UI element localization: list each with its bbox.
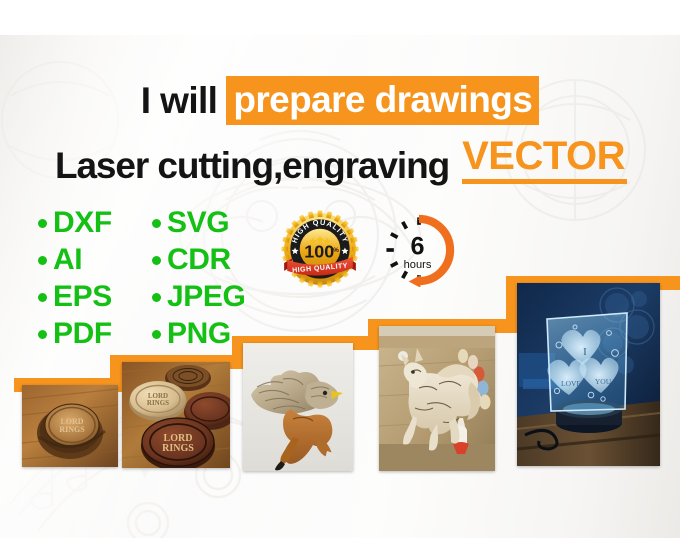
high-quality-seal-icon: HIGH QUALITY 100 % HIGH QUALITY <box>281 210 359 288</box>
bullet-icon <box>38 293 47 302</box>
photo-lotr-coaster-set[interactable]: LORD RINGS LORD RINGS <box>122 362 230 468</box>
bullet-icon <box>152 256 161 265</box>
photo-lotr-coaster-holder[interactable]: LORD RINGS <box>22 385 118 467</box>
format-column-1: DXF AI EPS PDF <box>38 206 130 351</box>
headline-vector: VECTOR <box>462 134 625 178</box>
bullet-icon <box>152 219 161 228</box>
bullet-icon <box>38 219 47 228</box>
format-item: SVG <box>152 206 270 240</box>
photo-griffin-wall-art[interactable] <box>243 343 353 471</box>
headline-vector-wrap: VECTOR <box>462 136 625 184</box>
lamp-heart-3-text: YOU <box>595 377 612 386</box>
photo-led-heart-lamp[interactable]: I LOVE YOU <box>517 283 660 466</box>
svg-text:RINGS: RINGS <box>147 399 169 407</box>
headline-line-2: Laser cutting,engraving VECTOR <box>0 134 680 184</box>
format-label: JPEG <box>167 282 245 312</box>
format-item: DXF <box>38 206 130 240</box>
seal-percent-value: 100 <box>304 242 334 262</box>
bullet-icon <box>152 330 161 339</box>
file-format-lists: DXF AI EPS PDF SVG CDR <box>38 206 270 351</box>
delivery-time-icon: 6 hours <box>382 213 456 287</box>
format-label: PDF <box>53 319 112 349</box>
format-label: CDR <box>167 245 231 275</box>
delivery-unit: hours <box>404 259 432 271</box>
lamp-heart-1-text: I <box>583 346 587 358</box>
format-item: CDR <box>152 243 270 277</box>
format-column-2: SVG CDR JPEG PNG <box>152 206 270 351</box>
format-label: AI <box>53 245 82 275</box>
photo-unicorn-multilayer[interactable] <box>379 326 495 471</box>
format-label: SVG <box>167 208 229 238</box>
lamp-heart-2-text: LOVE <box>561 379 581 388</box>
bullet-icon <box>38 256 47 265</box>
format-item: EPS <box>38 280 130 314</box>
bullet-icon <box>38 330 47 339</box>
headline-service-text: Laser cutting,engraving <box>55 147 449 184</box>
format-item: PDF <box>38 317 130 351</box>
svg-text:RINGS: RINGS <box>59 425 85 434</box>
svg-text:RINGS: RINGS <box>162 443 194 454</box>
poster-top-white-bar <box>0 0 680 35</box>
format-label: EPS <box>53 282 112 312</box>
headline-line-1: I will prepare drawings <box>0 78 680 122</box>
headline-prefix: I will <box>141 82 218 119</box>
delivery-value: 6 <box>411 232 425 260</box>
format-label: PNG <box>167 319 231 349</box>
vector-underline <box>462 179 627 184</box>
format-label: DXF <box>53 208 112 238</box>
bullet-icon <box>152 293 161 302</box>
seal-percent-unit: % <box>333 247 339 254</box>
format-item: AI <box>38 243 130 277</box>
format-item: JPEG <box>152 280 270 314</box>
headline: I will prepare drawings Laser cutting,en… <box>0 78 680 184</box>
headline-highlight: prepare drawings <box>226 76 539 125</box>
gig-thumbnail-poster: I will prepare drawings Laser cutting,en… <box>0 0 680 538</box>
